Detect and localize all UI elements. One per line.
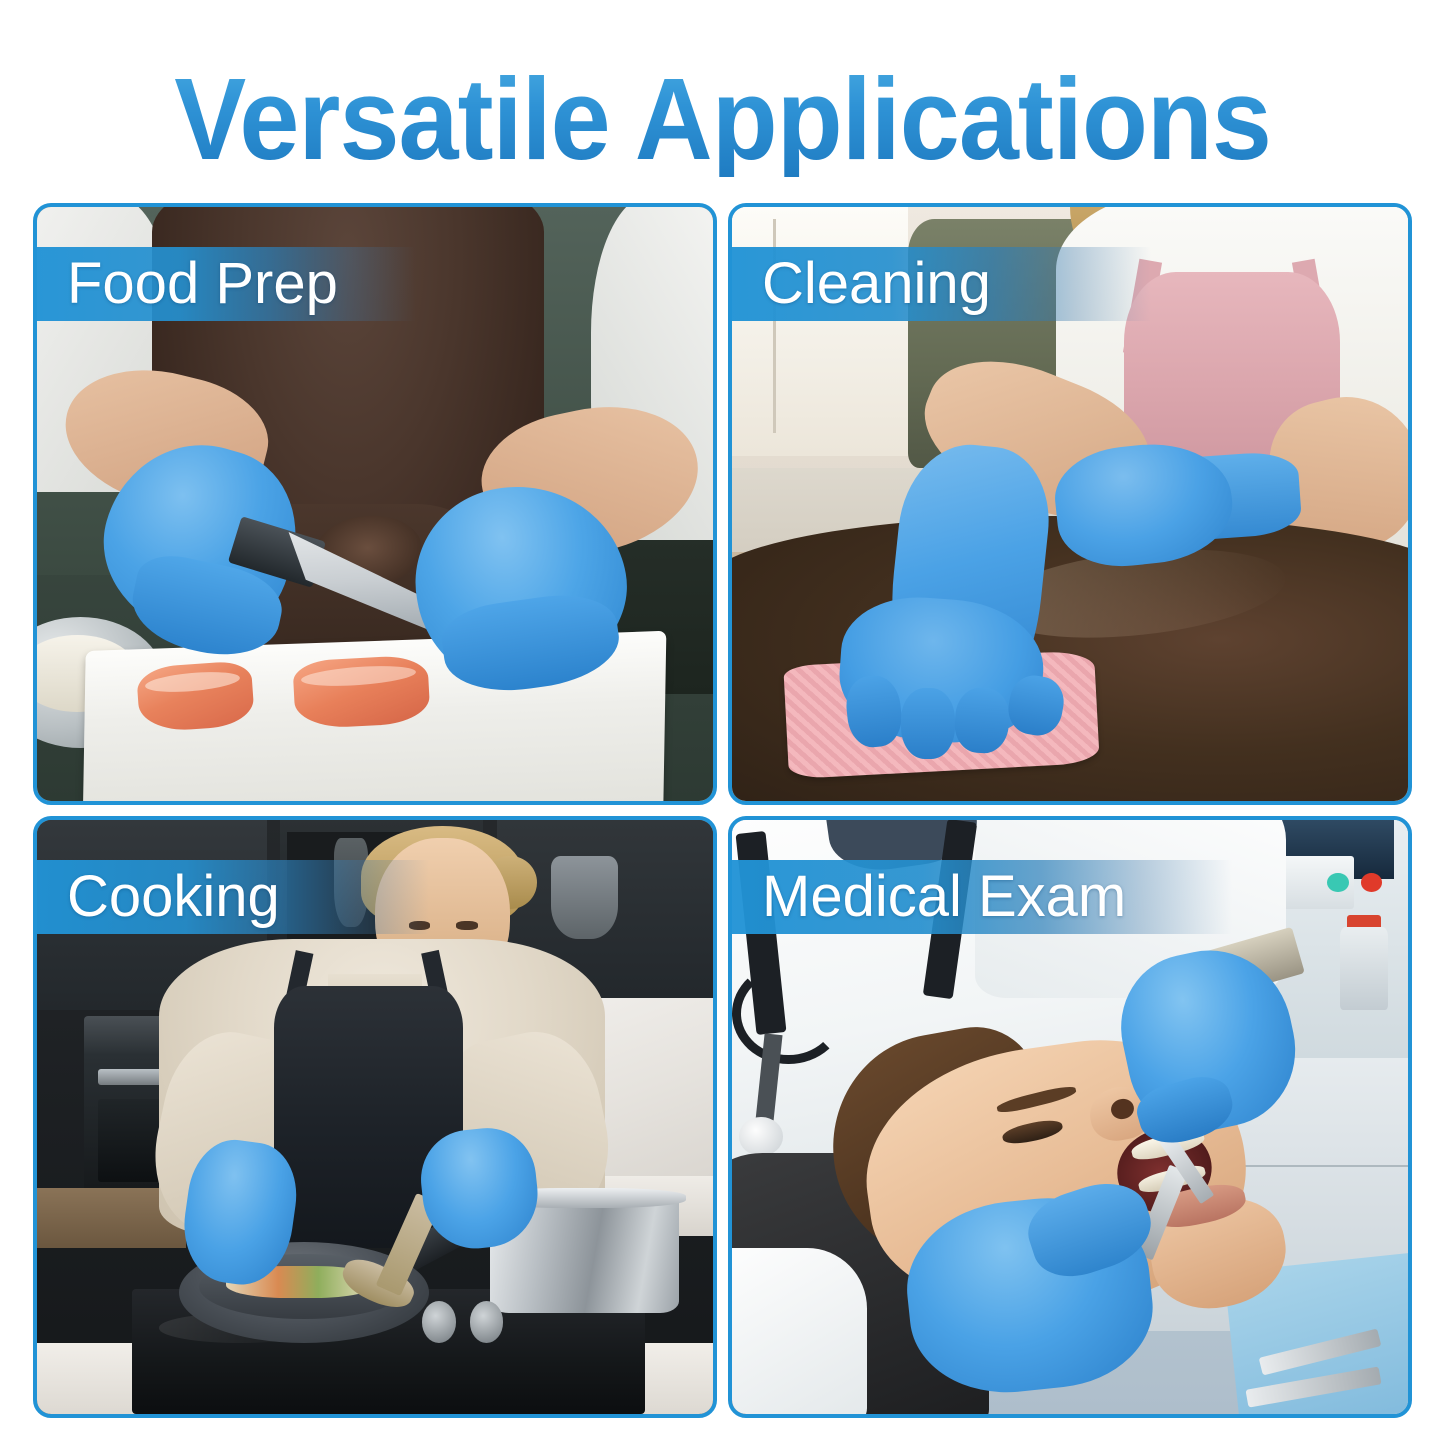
- window-frame: [773, 219, 776, 433]
- page-title: Versatile Applications: [174, 61, 1271, 177]
- green-indicator-button: [1327, 873, 1349, 892]
- application-panel-food-prep[interactable]: Food Prep: [33, 203, 717, 805]
- stethoscope-chestpiece: [739, 1117, 783, 1156]
- photo-food-prep: [37, 207, 713, 801]
- application-panel-cleaning[interactable]: Cleaning: [728, 203, 1412, 805]
- photo-cooking: [37, 820, 713, 1414]
- application-panel-medical-exam[interactable]: Medical Exam: [728, 816, 1412, 1418]
- window-light: [732, 207, 908, 456]
- photo-cleaning: [732, 207, 1408, 801]
- stethoscope-loop: [732, 963, 845, 1064]
- infographic-page: Versatile Applications: [0, 0, 1445, 1445]
- cooktop-knob-left: [422, 1301, 456, 1343]
- eye-right: [456, 921, 478, 930]
- page-title-wrapper: Versatile Applications: [0, 56, 1445, 181]
- supply-bottle: [1340, 927, 1387, 1010]
- utensil-holder: [551, 856, 619, 939]
- applications-grid: Food Prep: [33, 203, 1412, 1412]
- eye-left: [409, 921, 431, 930]
- application-panel-cooking[interactable]: Cooking: [33, 816, 717, 1418]
- cooktop-knob-right: [470, 1301, 504, 1343]
- glove-finger-2: [901, 688, 955, 759]
- coat-sleeve-lower: [732, 1248, 867, 1414]
- photo-medical-exam: [732, 820, 1408, 1414]
